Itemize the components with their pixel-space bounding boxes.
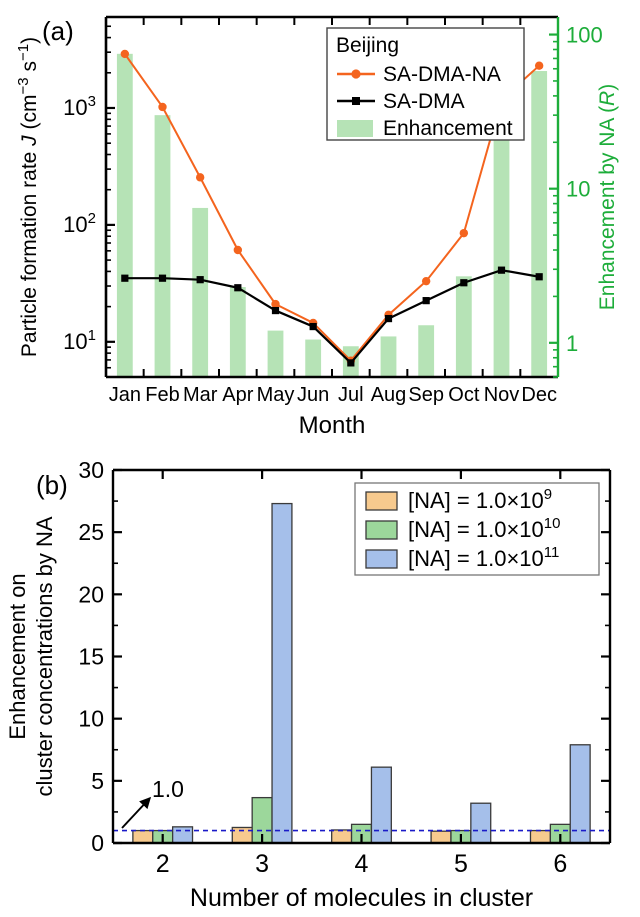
y-tick-label: 20 bbox=[78, 581, 104, 607]
data-point bbox=[197, 276, 204, 283]
legend-marker bbox=[351, 69, 360, 78]
data-point bbox=[385, 315, 392, 322]
enhancement-bar bbox=[381, 336, 397, 377]
legend-swatch-bar bbox=[337, 120, 373, 137]
y-tick-label: 15 bbox=[78, 644, 104, 670]
panel-b-y-axis-title: Enhancement oncluster concentrations by … bbox=[5, 516, 57, 796]
cluster-bar bbox=[272, 504, 292, 843]
enhancement-bar bbox=[456, 276, 472, 377]
legend-title: Beijing bbox=[336, 34, 399, 57]
data-point bbox=[310, 323, 317, 330]
cluster-bar bbox=[133, 831, 153, 843]
legend-entry[interactable]: Enhancement bbox=[337, 117, 513, 140]
legend-marker bbox=[352, 97, 360, 105]
x-tick-label: Sep bbox=[408, 384, 444, 406]
data-point bbox=[196, 173, 204, 181]
x-tick-label: May bbox=[257, 384, 295, 406]
panel-b: 1.005101520253023456Number of molecules … bbox=[5, 457, 610, 912]
x-tick-label: Jul bbox=[338, 384, 364, 406]
y-tick-label: 10 bbox=[78, 706, 104, 732]
y-tick-label: 30 bbox=[78, 457, 104, 483]
y2-tick-label: 1 bbox=[566, 331, 578, 356]
x-tick-label: Jan bbox=[109, 384, 141, 406]
x-tick-label: Mar bbox=[183, 384, 218, 406]
cluster-bar bbox=[431, 831, 451, 843]
panel-a-x-axis-title: Month bbox=[299, 412, 366, 439]
data-point bbox=[498, 267, 505, 274]
x-tick-label: 3 bbox=[255, 850, 269, 878]
x-tick-label: Aug bbox=[371, 384, 407, 406]
cluster-bar bbox=[530, 831, 550, 843]
y-tick-label: 102 bbox=[63, 210, 96, 237]
panel-b-legend: [NA] = 1.0×109[NA] = 1.0×1010[NA] = 1.0×… bbox=[355, 483, 599, 575]
data-point bbox=[423, 297, 430, 304]
legend-label: [NA] = 1.0×109 bbox=[408, 486, 552, 513]
x-tick-label: 5 bbox=[454, 850, 468, 878]
x-tick-label: Jun bbox=[297, 384, 329, 406]
x-tick-label: Oct bbox=[448, 384, 480, 406]
y2-tick-label: 10 bbox=[566, 177, 590, 202]
cluster-bar bbox=[471, 803, 491, 843]
enhancement-bar bbox=[230, 287, 246, 377]
panel-b-x-axis-title: Number of molecules in cluster bbox=[190, 884, 533, 912]
legend-label: SA-DMA bbox=[383, 90, 465, 113]
legend-label: SA-DMA-NA bbox=[383, 63, 501, 86]
panel-a-label: (a) bbox=[42, 16, 74, 46]
legend-swatch bbox=[366, 521, 397, 539]
y-tick-label: 0 bbox=[91, 830, 104, 856]
x-tick-label: Nov bbox=[484, 384, 520, 406]
figure-container: 101102103110100JanFebMarAprMayJunJulAugS… bbox=[0, 0, 640, 917]
enhancement-bar bbox=[531, 71, 547, 377]
series-line bbox=[125, 270, 539, 363]
panel-b-y-axis-title-line2: cluster concentrations by NA bbox=[32, 516, 57, 796]
panel-b-label: (b) bbox=[36, 470, 68, 500]
figure-svg: 101102103110100JanFebMarAprMayJunJulAugS… bbox=[0, 0, 640, 917]
x-tick-label: 2 bbox=[156, 850, 170, 878]
panel-a-y-axis-title: Particle formation rate J (cm−3 s−1) bbox=[15, 37, 41, 357]
cluster-bar bbox=[332, 830, 352, 843]
y-tick-label: 25 bbox=[78, 519, 104, 545]
data-point bbox=[121, 50, 129, 58]
x-tick-label: 4 bbox=[355, 850, 369, 878]
data-point bbox=[158, 103, 166, 111]
y2-tick-label: 100 bbox=[566, 23, 603, 48]
enhancement-bar bbox=[155, 115, 171, 377]
data-point bbox=[234, 246, 242, 254]
annotation-1.0: 1.0 bbox=[122, 776, 184, 828]
data-point bbox=[272, 307, 279, 314]
series-sa-dma bbox=[121, 267, 543, 367]
data-point bbox=[347, 359, 354, 366]
cluster-bar bbox=[570, 745, 590, 843]
legend-swatch bbox=[366, 492, 397, 510]
x-tick-label: Dec bbox=[521, 384, 557, 406]
enhancement-bar bbox=[494, 117, 510, 377]
legend-label: Enhancement bbox=[383, 117, 513, 140]
enhancement-bar bbox=[192, 208, 208, 377]
y-tick-label: 5 bbox=[91, 768, 104, 794]
x-tick-label: Apr bbox=[222, 384, 253, 406]
enhancement-bar bbox=[117, 54, 133, 377]
panel-a-y2-axis-title: Enhancement by NA (R) bbox=[596, 84, 619, 310]
panel-b-y-axis-title-line1: Enhancement on bbox=[5, 573, 30, 739]
panel-a: 101102103110100JanFebMarAprMayJunJulAugS… bbox=[15, 16, 619, 439]
legend-swatch bbox=[366, 550, 397, 568]
enhancement-bar bbox=[418, 325, 434, 377]
data-point bbox=[460, 229, 468, 237]
cluster-bar bbox=[371, 767, 391, 843]
annotation-label: 1.0 bbox=[152, 776, 184, 802]
panel-a-legend: BeijingSA-DMA-NASA-DMAEnhancement bbox=[327, 28, 524, 140]
enhancement-bar bbox=[305, 340, 321, 377]
data-point bbox=[234, 284, 241, 291]
data-point bbox=[159, 275, 166, 282]
data-point bbox=[422, 277, 430, 285]
legend-label: [NA] = 1.0×1011 bbox=[408, 544, 559, 571]
legend-label: [NA] = 1.0×1010 bbox=[408, 515, 560, 542]
y-tick-label: 101 bbox=[63, 327, 96, 354]
enhancement-bar bbox=[268, 331, 284, 377]
cluster-bar bbox=[173, 827, 193, 843]
data-point bbox=[535, 61, 543, 69]
annotation-arrow bbox=[122, 798, 150, 828]
data-point bbox=[536, 273, 543, 280]
data-point bbox=[460, 279, 467, 286]
y-tick-label: 103 bbox=[63, 93, 96, 120]
x-tick-label: 6 bbox=[553, 850, 567, 878]
data-point bbox=[121, 275, 128, 282]
x-tick-label: Feb bbox=[145, 384, 179, 406]
